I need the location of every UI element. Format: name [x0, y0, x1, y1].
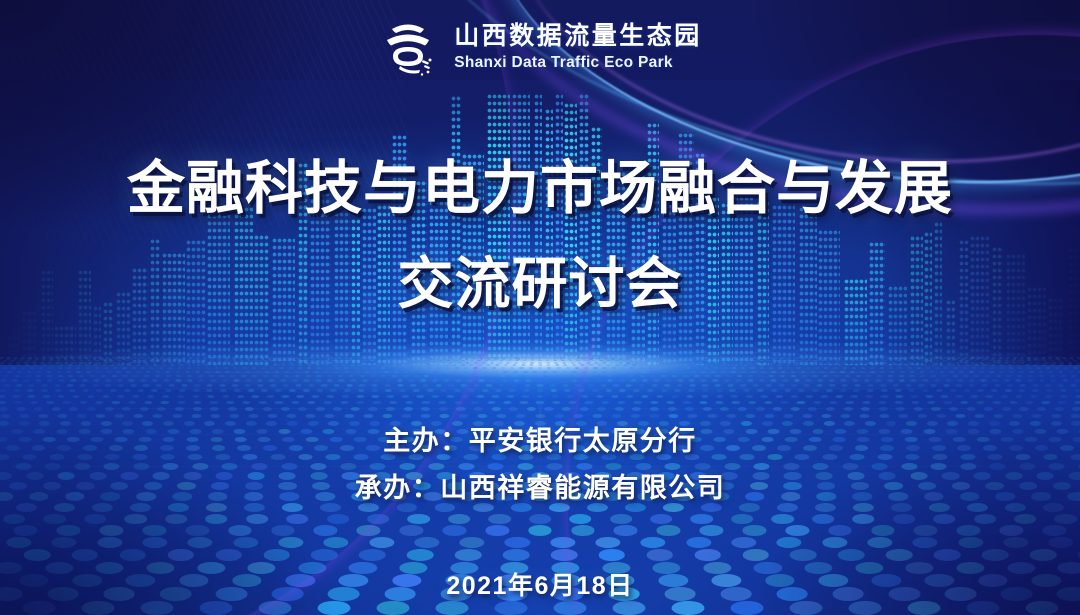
floor-dot: [42, 364, 46, 366]
floor-dot: [985, 375, 990, 377]
floor-dot: [675, 362, 679, 364]
floor-dot: [152, 379, 158, 382]
floor-dot: [824, 421, 835, 426]
floor-dot: [295, 371, 300, 373]
floor-dot: [15, 375, 20, 377]
floor-dot: [1045, 384, 1051, 387]
floor-dot: [224, 367, 228, 369]
floor-dot: [333, 364, 337, 366]
floor-dot: [13, 389, 20, 392]
floor-dot: [112, 375, 117, 377]
conference-poster: 山西数据流量生态园 Shanxi Data Traffic Eco Park 金…: [0, 0, 1080, 615]
floor-dot: [235, 371, 240, 373]
floor-dot: [424, 371, 429, 373]
floor-dot: [761, 395, 769, 398]
floor-dot: [129, 379, 135, 382]
floor-dot: [592, 371, 597, 373]
floor-dot: [964, 362, 968, 364]
floor-dot: [124, 514, 146, 524]
floor-dot: [1013, 414, 1023, 418]
floor-dot: [193, 401, 201, 405]
floor-dot: [1034, 364, 1038, 366]
floor-dot: [4, 375, 9, 377]
floor-dot: [851, 395, 859, 398]
floor-dot: [845, 375, 850, 377]
floor-dot: [910, 371, 915, 373]
floor-dot: [784, 389, 791, 392]
floor-dot: [905, 384, 911, 387]
floor-dot: [899, 375, 904, 377]
floor-dot-row: [0, 401, 1080, 405]
floor-dot: [76, 367, 80, 369]
floor-dot: [1049, 537, 1074, 548]
floor-dot-row: [16, 503, 1080, 512]
floor-dot: [350, 379, 356, 382]
floor-dot: [368, 407, 377, 411]
floor-dot: [499, 384, 505, 387]
floor-dot: [416, 395, 424, 398]
floor-dot: [509, 407, 518, 411]
floor-dot: [694, 549, 721, 561]
floor-dot: [650, 401, 658, 405]
floor-dot: [757, 389, 764, 392]
floor-dot: [402, 362, 406, 364]
floor-dot: [852, 514, 874, 524]
floor-dot: [1051, 364, 1055, 366]
floor-dot: [967, 503, 988, 512]
floor-dot: [488, 514, 510, 524]
floor-dot: [503, 401, 511, 405]
floor-dot: [641, 395, 649, 398]
floor-dot: [949, 371, 954, 373]
floor-dot: [193, 362, 197, 364]
floor-dot: [69, 389, 76, 392]
floor-dot: [946, 379, 952, 382]
floor-dot: [102, 364, 106, 366]
floor-dot: [384, 371, 389, 373]
floor-dot: [981, 367, 985, 369]
floor-dot: [359, 364, 363, 366]
floor-dot: [455, 549, 482, 561]
floor-dot: [612, 371, 617, 373]
floor-dot-row: [0, 364, 1080, 366]
floor-dot: [804, 384, 810, 387]
floor-dot: [1039, 375, 1044, 377]
floor-dot: [367, 514, 389, 524]
floor-dot: [672, 371, 677, 373]
floor-dot: [2, 367, 6, 369]
floor-dot: [410, 362, 414, 364]
floor-dot: [22, 601, 55, 615]
floor-dot: [256, 364, 260, 366]
floor-dot: [764, 414, 774, 418]
floor-dot: [892, 362, 896, 364]
logo-lockup: 山西数据流量生态园 Shanxi Data Traffic Eco Park: [0, 16, 1080, 78]
floor-dot: [372, 395, 380, 398]
floor-dot: [483, 371, 488, 373]
floor-dot: [320, 503, 341, 512]
floor-dot: [753, 384, 759, 387]
floor-dot: [230, 375, 235, 377]
floor-dot: [68, 364, 72, 366]
floor-dot: [316, 375, 321, 377]
floor-dot: [910, 395, 918, 398]
floor-dot: [530, 362, 534, 364]
floor-dot: [220, 389, 227, 392]
floor-dot: [76, 414, 86, 418]
floor-dot-row: [0, 367, 1080, 369]
floor-dot: [36, 375, 41, 377]
floor-dot: [823, 375, 828, 377]
floor-dot: [867, 537, 892, 548]
floor-dot: [664, 384, 670, 387]
floor-dot: [564, 389, 571, 392]
floor-dot: [619, 389, 626, 392]
floor-dot: [119, 364, 123, 366]
floor-dot: [176, 375, 181, 377]
floor-dot: [307, 401, 315, 405]
floor-dot: [423, 384, 429, 387]
floor-dot: [1032, 414, 1042, 418]
floor-dot: [64, 362, 68, 364]
floor-dot: [409, 367, 413, 369]
floor-dot: [562, 362, 566, 364]
floor-dot: [701, 379, 707, 382]
floor-dot: [185, 371, 190, 373]
floor-dot: [960, 401, 968, 405]
floor-dot: [192, 389, 199, 392]
floor-dot: [1054, 407, 1063, 411]
floor-dot: [205, 514, 227, 524]
floor-dot: [771, 514, 793, 524]
floor-dot: [30, 401, 38, 405]
floor-dot: [861, 367, 865, 369]
floor-dot: [877, 375, 882, 377]
floor-dot: [372, 384, 378, 387]
floor-dot: [1046, 367, 1050, 369]
floor-dot: [479, 379, 485, 382]
floor-dot: [67, 384, 73, 387]
floor-dot: [257, 384, 263, 387]
floor-dot: [638, 421, 649, 426]
floor-dot: [828, 525, 852, 535]
floor-dot: [292, 379, 298, 382]
floor-dot: [297, 395, 305, 398]
floor-dot: [47, 379, 53, 382]
floor-dot: [895, 401, 903, 405]
floor-dot: [748, 375, 753, 377]
floor-dot: [605, 389, 612, 392]
floor-dot: [185, 362, 189, 364]
floor-dot: [0, 379, 6, 382]
floor-dot: [453, 364, 457, 366]
floor-dot: [414, 371, 419, 373]
floor-dot: [374, 371, 379, 373]
floor-dot: [556, 367, 560, 369]
floor-dot: [702, 389, 709, 392]
floor-dot: [977, 389, 984, 392]
floor-dot: [400, 525, 424, 535]
floor-dot: [48, 362, 52, 364]
floor-dot: [150, 367, 154, 369]
floor-dot: [672, 375, 677, 377]
floor-dot: [187, 379, 193, 382]
floor-dot: [581, 364, 585, 366]
floor-dot: [702, 384, 708, 387]
floor-dot: [122, 367, 126, 369]
floor-dot: [467, 379, 473, 382]
floor-dot: [468, 389, 475, 392]
floor-dot: [575, 384, 581, 387]
floor-dot: [8, 362, 12, 364]
floor-dot: [413, 375, 418, 377]
floor-dot: [651, 384, 657, 387]
floor-dot: [492, 367, 496, 369]
floor-dot: [450, 362, 454, 364]
floor-dot: [529, 367, 533, 369]
floor-dot: [1039, 379, 1045, 382]
floor-dot: [246, 421, 257, 426]
floor-dot: [503, 549, 530, 561]
floor-dot: [299, 364, 303, 366]
floor-dot: [658, 421, 669, 426]
floor-dot: [936, 414, 946, 418]
floor-dot: [1060, 362, 1064, 364]
floor-dot: [275, 371, 280, 373]
floor-dot: [632, 407, 641, 411]
floor-dot: [1068, 362, 1072, 364]
floor-dot: [404, 407, 413, 411]
floor-dot: [796, 367, 800, 369]
floor-dot: [133, 375, 138, 377]
floor-dot: [363, 414, 373, 418]
floor-dot: [192, 407, 201, 411]
floor-dot: [691, 371, 696, 373]
floor-dot: [922, 389, 929, 392]
floor-dot: [486, 384, 492, 387]
floor-dot: [473, 384, 479, 387]
floor-dot: [568, 401, 576, 405]
floor-dot: [893, 384, 899, 387]
floor-dot: [787, 367, 791, 369]
floor-dot: [640, 375, 645, 377]
floor-dot: [57, 414, 67, 418]
floor-dot: [843, 367, 847, 369]
floor-dot: [709, 364, 713, 366]
floor-dot: [364, 371, 369, 373]
floor-dot: [731, 537, 756, 548]
floor-dot: [92, 503, 113, 512]
floor-dot: [503, 371, 508, 373]
floor-dot: [80, 421, 91, 426]
floor-dot: [1009, 401, 1017, 405]
floor-dot: [267, 395, 275, 398]
floor-dot: [436, 364, 440, 366]
floor-dot: [359, 549, 386, 561]
floor-dot: [102, 395, 110, 398]
floor-dot: [237, 395, 245, 398]
floor-dot: [627, 362, 631, 364]
floor-dot: [806, 379, 812, 382]
floor-dot: [924, 362, 928, 364]
floor-dot: [1014, 514, 1036, 524]
floor-dot: [11, 367, 15, 369]
floor-dot: [1005, 389, 1012, 392]
floor-dot: [500, 375, 505, 377]
floor-dot: [638, 384, 644, 387]
floor-dot: [269, 379, 275, 382]
floor-dot: [289, 389, 296, 392]
floor-dot: [969, 384, 975, 387]
floor-dot: [335, 367, 339, 369]
floor-dot: [854, 384, 860, 387]
floor-dot: [485, 525, 509, 535]
floor-dot: [414, 537, 439, 548]
floor-dot: [944, 367, 948, 369]
floor-dot: [369, 421, 380, 426]
floor-dot: [549, 503, 570, 512]
floor-dot: [791, 384, 797, 387]
floor-dot: [602, 367, 606, 369]
floor-dot: [329, 362, 333, 364]
floor-dot: [576, 421, 587, 426]
floor-dot: [42, 395, 50, 398]
floor-dot: [870, 367, 874, 369]
floor-dot: [305, 371, 310, 373]
floor-dot: [147, 395, 155, 398]
floor-dot: [321, 384, 327, 387]
floor-dot: [535, 414, 545, 418]
floor-dot: [175, 379, 181, 382]
floor-dot: [328, 421, 339, 426]
floor-dot: [314, 371, 319, 373]
floor-dot: [994, 414, 1004, 418]
floor-dot: [737, 375, 742, 377]
floor-dot: [455, 379, 461, 382]
floor-dot: [440, 389, 447, 392]
floor-dot: [156, 371, 161, 373]
floor-dot: [112, 401, 120, 405]
floor-dot: [812, 375, 817, 377]
floor-dot: [514, 379, 520, 382]
floor-dot: [955, 414, 965, 418]
floor-dot: [824, 367, 828, 369]
floor-dot: [422, 401, 430, 405]
floor-dot: [493, 421, 504, 426]
floor-dot: [794, 379, 800, 382]
floor-dot: [999, 371, 1004, 373]
floor-dot: [965, 364, 969, 366]
floor-dot: [599, 549, 626, 561]
floor-dot: [525, 379, 531, 382]
floor-dot: [0, 362, 4, 364]
floor-dot: [96, 362, 100, 364]
floor-dot: [683, 364, 687, 366]
floor-dot: [7, 371, 12, 373]
floor-dot: [427, 367, 431, 369]
floor-dot: [650, 407, 659, 411]
floor-dot: [501, 367, 505, 369]
floor-dot: [675, 364, 679, 366]
floor-dot: [546, 362, 550, 364]
floor-dot: [691, 514, 713, 524]
floor-dot: [101, 421, 112, 426]
floor-dot: [431, 421, 442, 426]
floor-dot: [957, 364, 961, 366]
floor-dot: [585, 401, 593, 405]
floor-dot: [386, 362, 390, 364]
floor-dot: [17, 371, 22, 373]
floor-dot-row: [0, 389, 1080, 392]
floor-dot: [700, 364, 704, 366]
floor-dot: [803, 362, 807, 364]
floor-dot: [906, 421, 917, 426]
floor-dot: [650, 414, 660, 418]
floor-dot: [538, 367, 542, 369]
floor-dot: [707, 414, 717, 418]
floor-dot: [171, 364, 175, 366]
floor-dot: [649, 367, 653, 369]
floor-dot: [67, 367, 71, 369]
floor-dot: [376, 601, 409, 615]
floor-dot: [631, 414, 641, 418]
floor-dot: [358, 389, 365, 392]
floor-dot: [1005, 503, 1026, 512]
floor-dot: [587, 503, 608, 512]
floor-dot: [642, 379, 648, 382]
floor-dot: [453, 371, 458, 373]
floor-dot: [59, 364, 63, 366]
floor-dot: [228, 407, 237, 411]
floor-dot: [181, 384, 187, 387]
floor-dot: [689, 379, 695, 382]
floor-dot: [239, 364, 243, 366]
floor-dot: [611, 395, 619, 398]
floor-dot: [52, 537, 77, 548]
floor-dot: [791, 375, 796, 377]
floor-dot: [433, 371, 438, 373]
floor-dot: [720, 421, 731, 426]
floor-dot: [121, 362, 125, 364]
floor-dot: [596, 395, 604, 398]
floor-dot: [726, 414, 736, 418]
floor-dot: [747, 379, 753, 382]
floor-dot: [1012, 362, 1016, 364]
floor-dot: [252, 367, 256, 369]
floor-dot: [394, 371, 399, 373]
floor-dot: [562, 407, 571, 411]
floor-dot: [384, 364, 388, 366]
floor-dot: [715, 384, 721, 387]
floor-dot: [1028, 362, 1032, 364]
floor-dot: [397, 384, 403, 387]
floor-dot: [981, 384, 987, 387]
floor-dot: [621, 367, 625, 369]
floor-dot: [550, 384, 556, 387]
floor-dot: [79, 401, 87, 405]
floor-dot: [761, 371, 766, 373]
floor-dot: [175, 407, 184, 411]
floor-dot: [306, 375, 311, 377]
floor-dot: [834, 375, 839, 377]
floor-dot: [694, 375, 699, 377]
floor-dot: [448, 384, 454, 387]
floor-dot: [97, 537, 122, 548]
floor-dot: [482, 367, 486, 369]
floor-dot: [970, 395, 978, 398]
floor-dot: [307, 367, 311, 369]
floor-dot: [279, 367, 283, 369]
